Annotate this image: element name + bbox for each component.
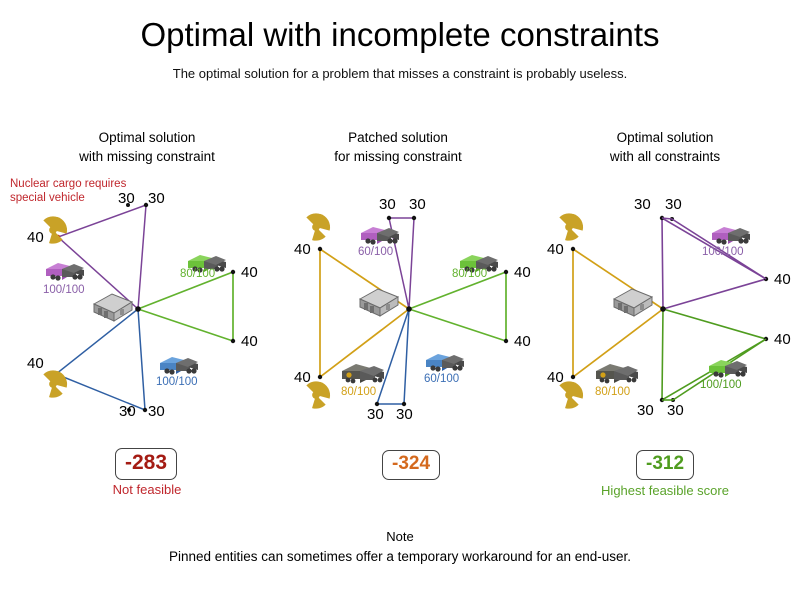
node-label: 40 bbox=[547, 369, 564, 386]
node-label: 30 bbox=[148, 190, 165, 207]
warehouse-icon bbox=[90, 290, 136, 324]
truck-icon bbox=[424, 349, 472, 375]
node-label: 30 bbox=[409, 196, 426, 213]
truck-icon-nuclear bbox=[594, 359, 648, 387]
node-label: 30 bbox=[665, 196, 682, 213]
score-caption-right: Highest feasible score bbox=[535, 483, 795, 498]
node-label: 30 bbox=[118, 190, 135, 207]
node-label: 30 bbox=[634, 196, 651, 213]
green-route-left bbox=[138, 270, 235, 343]
score-caption-left: Not feasible bbox=[17, 482, 277, 497]
warehouse-icon bbox=[610, 285, 656, 319]
slide-root: Optimal with incomplete constraints The … bbox=[0, 0, 800, 600]
score-badge-right[interactable]: -312 bbox=[636, 450, 694, 480]
vehicle-load-orange-middle: 80/100 bbox=[341, 386, 376, 398]
node-label: 40 bbox=[774, 331, 791, 348]
note-text: Pinned entities can sometimes offer a te… bbox=[0, 549, 800, 564]
node-label: 30 bbox=[396, 406, 413, 423]
panel-middle-routes bbox=[306, 213, 508, 408]
warehouse-icon bbox=[356, 285, 402, 319]
panel-left-routes bbox=[43, 203, 235, 412]
node-label: 30 bbox=[379, 196, 396, 213]
node-label: 40 bbox=[27, 229, 44, 246]
vehicle-load-blue-left: 100/100 bbox=[156, 376, 198, 388]
node-label: 40 bbox=[514, 333, 531, 350]
score-badge-middle[interactable]: -324 bbox=[382, 450, 440, 480]
node-label: 40 bbox=[294, 369, 311, 386]
truck-icon bbox=[359, 222, 407, 248]
node-label: 40 bbox=[294, 241, 311, 258]
truck-icon bbox=[707, 355, 755, 381]
radiation-icon bbox=[43, 216, 67, 243]
score-badge-left[interactable]: -283 bbox=[115, 448, 177, 480]
vehicle-load-purple-middle: 60/100 bbox=[358, 246, 393, 258]
blue-route-left bbox=[54, 309, 147, 412]
note-title: Note bbox=[0, 529, 800, 544]
radiation-icon bbox=[559, 213, 583, 240]
node-label: 40 bbox=[241, 264, 258, 281]
node-label: 30 bbox=[119, 403, 136, 420]
truck-icon bbox=[710, 222, 758, 248]
truck-icon-nuclear bbox=[340, 359, 394, 387]
node-label: 30 bbox=[667, 402, 684, 419]
vehicle-load-green-left: 80/100 bbox=[180, 268, 215, 280]
vehicle-load-purple-right: 100/100 bbox=[702, 246, 744, 258]
node-label: 40 bbox=[241, 333, 258, 350]
green-route-middle bbox=[409, 270, 508, 343]
vehicle-load-blue-middle: 60/100 bbox=[424, 373, 459, 385]
node-label: 40 bbox=[27, 355, 44, 372]
vehicle-load-green-middle: 80/100 bbox=[452, 268, 487, 280]
vehicle-load-purple-left: 100/100 bbox=[43, 284, 85, 296]
node-label: 30 bbox=[367, 406, 384, 423]
blue-route-middle bbox=[375, 309, 409, 406]
vehicle-load-orange-right: 80/100 bbox=[595, 386, 630, 398]
node-label: 40 bbox=[514, 264, 531, 281]
radiation-icon bbox=[306, 213, 330, 240]
radiation-icon bbox=[43, 370, 67, 397]
truck-icon bbox=[158, 352, 206, 378]
node-label: 30 bbox=[148, 403, 165, 420]
node-label: 40 bbox=[547, 241, 564, 258]
vehicle-load-green-right: 100/100 bbox=[700, 379, 742, 391]
truck-icon bbox=[44, 258, 92, 284]
node-label: 40 bbox=[774, 271, 791, 288]
node-label: 30 bbox=[637, 402, 654, 419]
